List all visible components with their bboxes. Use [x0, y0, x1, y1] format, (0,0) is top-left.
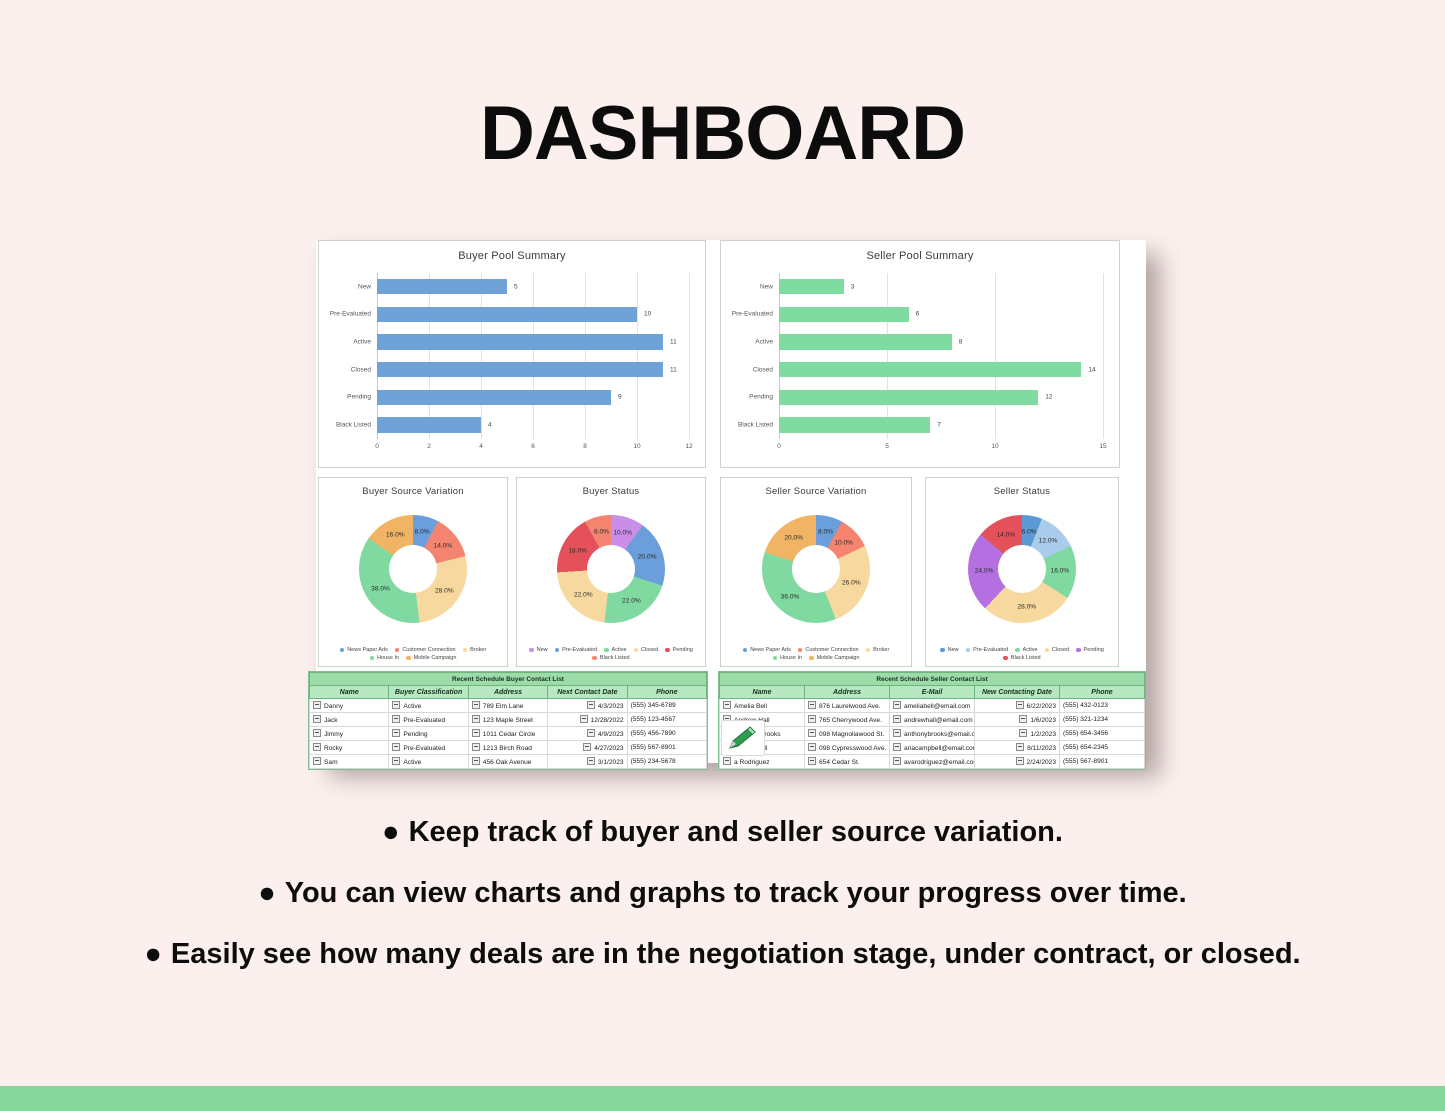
donut-slice-label: 18.0% — [568, 547, 587, 554]
bar — [779, 417, 930, 432]
bar-row: Black Listed7 — [779, 411, 1103, 439]
table-cell[interactable]: 8/11/2023 — [975, 741, 1060, 755]
table-cell[interactable]: ameliabell@email.com — [890, 699, 975, 713]
dashboard-screenshot: Buyer Pool Summary New5Pre-Evaluated10Ac… — [316, 240, 1146, 763]
filter-dropdown-icon[interactable] — [583, 743, 591, 751]
seller-pool-summary-chart: New3Pre-Evaluated6Active8Closed14Pending… — [721, 267, 1115, 461]
table-cell[interactable]: Rocky — [310, 741, 389, 755]
cell-value: Jimmy — [324, 731, 343, 738]
bar-value-label: 6 — [916, 311, 920, 318]
seller-source-legend: News Paper AdsCustomer ConnectionBrokerH… — [727, 647, 905, 661]
cell-value: Pending — [403, 731, 427, 738]
table-row[interactable]: RockyPre-Evaluated1213 Birch Road4/27/20… — [310, 741, 707, 755]
bar-chart-row: Buyer Pool Summary New5Pre-Evaluated10Ac… — [318, 240, 1144, 468]
legend-item: Pending — [665, 647, 693, 653]
table-cell[interactable]: anthonybrooks@email.com — [890, 727, 975, 741]
donut-slice-label: 22.0% — [622, 598, 641, 605]
buyer-source-variation-card: Buyer Source Variation 8.0%14.0%28.0%38.… — [318, 477, 508, 667]
seller-contact-table: Recent Schedule Seller Contact ListNameA… — [718, 671, 1146, 770]
bar-value-label: 11 — [670, 339, 677, 346]
donut-slice-label: 16.0% — [386, 532, 405, 539]
table-cell[interactable]: (555) 654-2345 — [1060, 741, 1145, 755]
cell-value: 098 Cypresswood Ave. — [819, 745, 886, 752]
buyer-status-legend: NewPre-EvaluatedActiveClosedPendingBlack… — [523, 647, 699, 661]
table-row[interactable]: Andrew Hall765 Cherrywood Ave.andrewhall… — [720, 713, 1145, 727]
table-cell[interactable]: 789 Elm Lane — [468, 699, 547, 713]
bar — [377, 307, 637, 322]
bar-category-label: Black Listed — [738, 422, 773, 429]
bar — [779, 362, 1081, 377]
cell-value: (555) 654-2345 — [1063, 744, 1108, 751]
legend-swatch — [665, 648, 670, 653]
axis-tick-label: 0 — [777, 443, 781, 450]
table-cell[interactable]: 2/24/2023 — [975, 755, 1060, 769]
pencil-cursor-icon — [721, 720, 765, 756]
column-header[interactable]: Address — [468, 686, 547, 699]
donut-slice-label: 28.0% — [435, 587, 454, 594]
cell-value: 876 Laurelwood Ave. — [819, 703, 880, 710]
table-cell[interactable]: (555) 321-1234 — [1060, 713, 1145, 727]
column-header[interactable]: Phone — [1060, 686, 1145, 699]
cell-value: (555) 345-6789 — [631, 702, 676, 709]
table-cell[interactable]: Jimmy — [310, 727, 389, 741]
legend-swatch — [940, 648, 945, 653]
buyer-source-variation-title: Buyer Source Variation — [319, 486, 507, 497]
table-cell[interactable]: (555) 345-6789 — [627, 699, 706, 713]
legend-label: New — [537, 647, 548, 653]
bar — [779, 334, 952, 349]
bar — [377, 334, 663, 349]
filter-dropdown-icon[interactable] — [808, 729, 816, 737]
filter-dropdown-icon[interactable] — [313, 729, 321, 737]
seller-pool-summary-card: Seller Pool Summary New3Pre-Evaluated6Ac… — [720, 240, 1120, 468]
table-row[interactable]: a Rodriguez654 Cedar St.avarodriguez@ema… — [720, 755, 1145, 769]
bar — [779, 307, 909, 322]
cell-value: Pre-Evaluated — [403, 717, 445, 724]
table-cell[interactable]: Active — [389, 755, 468, 769]
column-header[interactable]: Phone — [627, 686, 706, 699]
table-cell[interactable]: Pending — [389, 727, 468, 741]
cell-value: Amelia Bell — [734, 703, 767, 710]
legend-item: Broker — [463, 647, 487, 653]
legend-swatch — [592, 656, 597, 661]
bar-row: Closed11 — [377, 356, 689, 384]
legend-label: New — [948, 647, 959, 653]
bar-row: Closed14 — [779, 356, 1103, 384]
gridline — [1103, 273, 1104, 439]
filter-dropdown-icon[interactable] — [1019, 729, 1027, 737]
table-cell[interactable]: 1011 Cedar Circle — [468, 727, 547, 741]
legend-label: House In — [780, 655, 802, 661]
buyer-source-donut: 8.0%14.0%28.0%38.0%16.0% — [319, 502, 507, 636]
seller-pool-plot: New3Pre-Evaluated6Active8Closed14Pending… — [779, 273, 1103, 439]
filter-dropdown-icon[interactable] — [808, 715, 816, 723]
table-cell[interactable]: (555) 234-5678 — [627, 755, 706, 769]
cell-value: (555) 567-8901 — [631, 744, 676, 751]
filter-dropdown-icon[interactable] — [313, 701, 321, 709]
bullet-item: ●Keep track of buyer and seller source v… — [60, 802, 1385, 863]
legend-label: Pre-Evaluated — [562, 647, 597, 653]
seller-source-variation-card: Seller Source Variation 8.0%10.0%26.0%36… — [720, 477, 912, 667]
seller-source-donut: 8.0%10.0%26.0%36.0%20.0% — [721, 502, 911, 636]
legend-swatch — [370, 656, 375, 661]
bar-value-label: 9 — [618, 394, 622, 401]
legend-label: Pending — [1084, 647, 1104, 653]
cell-value: Active — [403, 703, 421, 710]
donut-slice-label: 24.0% — [975, 568, 994, 575]
bullet-marker: ● — [144, 938, 162, 970]
cell-value: 12/28/2022 — [591, 717, 624, 724]
buyer-pool-xaxis: 024681012 — [377, 443, 689, 457]
table-cell[interactable]: Danny — [310, 699, 389, 713]
cell-value: a Rodriguez — [734, 759, 770, 766]
donut-slice-label: 14.0% — [434, 542, 453, 549]
filter-dropdown-icon[interactable] — [472, 743, 480, 751]
table-cell[interactable]: 098 Cypresswood Ave. — [805, 741, 890, 755]
column-header[interactable]: E-Mail — [890, 686, 975, 699]
legend-swatch — [866, 648, 871, 653]
filter-dropdown-icon[interactable] — [580, 715, 588, 723]
donut-slice-label: 8.0% — [594, 529, 609, 536]
cell-value: Sam — [324, 759, 338, 766]
buyer-status-title: Buyer Status — [517, 486, 705, 497]
donut-slice-label: 28.0% — [1017, 603, 1036, 610]
bar — [377, 362, 663, 377]
donut-slice-label: 22.0% — [574, 592, 593, 599]
cell-value: (555) 123-4567 — [631, 716, 676, 723]
donut-slice-label: 36.0% — [781, 593, 800, 600]
filter-dropdown-icon[interactable] — [313, 757, 321, 765]
gridline — [689, 273, 690, 439]
table-row[interactable]: a Campbell098 Cypresswood Ave.ariacampbe… — [720, 741, 1145, 755]
cell-value: Jack — [324, 717, 338, 724]
bar-row: Pending9 — [377, 384, 689, 412]
table-row[interactable]: SamActive456 Oak Avenue3/1/2023(555) 234… — [310, 755, 707, 769]
legend-item: News Paper Ads — [743, 647, 791, 653]
donut-ring — [359, 515, 467, 623]
bar-row: Black Listed4 — [377, 411, 689, 439]
legend-label: Active — [1023, 647, 1038, 653]
legend-swatch — [809, 656, 814, 661]
table-cell[interactable]: (555) 456-7890 — [627, 727, 706, 741]
table-row[interactable]: JackPre-Evaluated123 Maple Street12/28/2… — [310, 713, 707, 727]
table-caption: Recent Schedule Seller Contact List — [720, 673, 1145, 686]
table-row[interactable]: Anthony Brooks098 Magnoliawood St.anthon… — [720, 727, 1145, 741]
table-cell[interactable]: 4/3/2023 — [548, 699, 627, 713]
legend-swatch — [555, 648, 560, 653]
bullet-item: ●Easily see how many deals are in the ne… — [60, 924, 1385, 985]
legend-swatch — [604, 648, 609, 653]
bar-category-label: Pre-Evaluated — [732, 311, 773, 318]
table-cell[interactable]: 876 Laurelwood Ave. — [805, 699, 890, 713]
table-cell[interactable]: 765 Cherrywood Ave. — [805, 713, 890, 727]
filter-dropdown-icon[interactable] — [723, 757, 731, 765]
column-header[interactable]: Buyer Classification — [389, 686, 468, 699]
legend-swatch — [634, 648, 639, 653]
table-row[interactable]: DannyActive789 Elm Lane4/3/2023(555) 345… — [310, 699, 707, 713]
seller-status-card: Seller Status 6.0%12.0%16.0%28.0%24.0%14… — [925, 477, 1119, 667]
cell-value: 3/1/2023 — [598, 759, 624, 766]
filter-dropdown-icon[interactable] — [1016, 743, 1024, 751]
column-header[interactable]: New Contacting Date — [975, 686, 1060, 699]
table-cell[interactable]: 6/22/2023 — [975, 699, 1060, 713]
bar-value-label: 7 — [937, 422, 941, 429]
legend-item: Mobile Campaign — [406, 655, 456, 661]
bar-value-label: 14 — [1088, 366, 1095, 373]
filter-dropdown-icon[interactable] — [808, 757, 816, 765]
filter-dropdown-icon[interactable] — [587, 701, 595, 709]
table-cell[interactable]: Jack — [310, 713, 389, 727]
filter-dropdown-icon[interactable] — [472, 715, 480, 723]
buyer-contact-table: Recent Schedule Buyer Contact ListNameBu… — [308, 671, 708, 770]
bar — [779, 279, 844, 294]
donut-slice-label: 16.0% — [1051, 568, 1070, 575]
legend-item: Active — [1015, 647, 1037, 653]
axis-tick-label: 12 — [685, 443, 692, 450]
axis-tick-label: 2 — [427, 443, 431, 450]
legend-item: Customer Connection — [798, 647, 859, 653]
legend-item: House In — [773, 655, 803, 661]
bullet-item: ●You can view charts and graphs to track… — [60, 863, 1385, 924]
bar-value-label: 8 — [959, 339, 963, 346]
donut-slice-label: 26.0% — [842, 580, 861, 587]
donut-slice-label: 38.0% — [371, 585, 390, 592]
legend-swatch — [743, 648, 748, 653]
table-cell[interactable]: avarodriguez@email.com — [890, 755, 975, 769]
bar-category-label: New — [760, 283, 773, 290]
legend-swatch — [798, 648, 803, 653]
column-header[interactable]: Address — [805, 686, 890, 699]
donut-ring — [762, 515, 870, 623]
bar-row: Active8 — [779, 328, 1103, 356]
column-header[interactable]: Name — [720, 686, 805, 699]
bar-value-label: 11 — [670, 366, 677, 373]
axis-tick-label: 10 — [991, 443, 998, 450]
table-cell[interactable]: Pre-Evaluated — [389, 741, 468, 755]
axis-tick-label: 8 — [583, 443, 587, 450]
filter-dropdown-icon[interactable] — [392, 729, 400, 737]
legend-item: Broker — [866, 647, 890, 653]
filter-dropdown-icon[interactable] — [808, 743, 816, 751]
bar — [779, 390, 1038, 405]
column-header[interactable]: Next Contact Date — [548, 686, 627, 699]
legend-swatch — [773, 656, 778, 661]
filter-dropdown-icon[interactable] — [313, 743, 321, 751]
bullet-marker: ● — [258, 877, 276, 909]
legend-item: Active — [604, 647, 626, 653]
table-cell[interactable]: (555) 123-4567 — [627, 713, 706, 727]
filter-dropdown-icon[interactable] — [472, 701, 480, 709]
filter-dropdown-icon[interactable] — [313, 715, 321, 723]
donut-slice-label: 10.0% — [613, 529, 632, 536]
cell-value: 6/22/2023 — [1027, 703, 1056, 710]
axis-tick-label: 15 — [1099, 443, 1106, 450]
table-cell[interactable]: (555) 567-8901 — [1060, 755, 1145, 769]
filter-dropdown-icon[interactable] — [723, 701, 731, 709]
bar-row: Pre-Evaluated6 — [779, 301, 1103, 329]
table-cell[interactable]: (555) 654-3456 — [1060, 727, 1145, 741]
cell-value: 765 Cherrywood Ave. — [819, 717, 882, 724]
table-cell[interactable]: 654 Cedar St. — [805, 755, 890, 769]
cell-value: (555) 654-3456 — [1063, 730, 1108, 737]
cell-value: andrewhall@email.com — [904, 717, 973, 724]
bullet-text: Easily see how many deals are in the neg… — [171, 938, 1301, 970]
filter-dropdown-icon[interactable] — [808, 701, 816, 709]
table-cell[interactable]: 123 Maple Street — [468, 713, 547, 727]
bar — [377, 279, 507, 294]
cell-value: (555) 321-1234 — [1063, 716, 1108, 723]
bar-row: New3 — [779, 273, 1103, 301]
legend-label: Broker — [470, 647, 486, 653]
table-cell[interactable]: Pre-Evaluated — [389, 713, 468, 727]
legend-swatch — [340, 648, 345, 653]
table-cell[interactable]: 1/2/2023 — [975, 727, 1060, 741]
legend-label: News Paper Ads — [347, 647, 388, 653]
table-cell[interactable]: a Rodriguez — [720, 755, 805, 769]
table-caption: Recent Schedule Buyer Contact List — [310, 673, 707, 686]
legend-swatch — [406, 656, 411, 661]
filter-dropdown-icon[interactable] — [392, 757, 400, 765]
seller-pool-xaxis: 051015 — [779, 443, 1103, 457]
donut-ring — [557, 515, 665, 623]
table-cell[interactable]: 12/28/2022 — [548, 713, 627, 727]
cell-value: Danny — [324, 703, 343, 710]
cell-value: 1/2/2023 — [1030, 731, 1056, 738]
filter-dropdown-icon[interactable] — [893, 701, 901, 709]
contact-tables-row: Recent Schedule Buyer Contact ListNameBu… — [308, 671, 1146, 763]
cell-value: 4/27/2023 — [594, 745, 623, 752]
table-cell[interactable]: Active — [389, 699, 468, 713]
seller-status-legend: NewPre-EvaluatedActiveClosedPendingBlack… — [932, 647, 1112, 661]
cell-value: 4/9/2023 — [598, 731, 624, 738]
legend-swatch — [529, 648, 534, 653]
filter-dropdown-icon[interactable] — [472, 729, 480, 737]
axis-tick-label: 6 — [531, 443, 535, 450]
filter-dropdown-icon[interactable] — [1019, 715, 1027, 723]
legend-label: Mobile Campaign — [817, 655, 860, 661]
bar-category-label: Active — [755, 339, 773, 346]
donut-slice-label: 6.0% — [1022, 528, 1037, 535]
filter-dropdown-icon[interactable] — [1016, 701, 1024, 709]
legend-label: Active — [612, 647, 627, 653]
table-cell[interactable]: Amelia Bell — [720, 699, 805, 713]
buyer-source-legend: News Paper AdsCustomer ConnectionBrokerH… — [325, 647, 501, 661]
filter-dropdown-icon[interactable] — [1016, 757, 1024, 765]
legend-label: News Paper Ads — [750, 647, 791, 653]
buyer-status-donut: 10.0%20.0%22.0%22.0%18.0%8.0% — [517, 502, 705, 636]
legend-swatch — [1003, 656, 1008, 661]
legend-label: Closed — [641, 647, 658, 653]
table-cell[interactable]: 098 Magnoliawood St. — [805, 727, 890, 741]
bullet-text: Keep track of buyer and seller source va… — [409, 816, 1063, 848]
bar-value-label: 10 — [644, 311, 651, 318]
axis-tick-label: 10 — [633, 443, 640, 450]
bar-category-label: New — [358, 283, 371, 290]
bar-row: New5 — [377, 273, 689, 301]
table-cell[interactable]: 4/27/2023 — [548, 741, 627, 755]
table-row[interactable]: Amelia Bell876 Laurelwood Ave.ameliabell… — [720, 699, 1145, 713]
legend-item: Closed — [1045, 647, 1070, 653]
legend-item: Black Listed — [592, 655, 629, 661]
table-cell[interactable]: Sam — [310, 755, 389, 769]
table-cell[interactable]: 1213 Birch Road — [468, 741, 547, 755]
filter-dropdown-icon[interactable] — [893, 715, 901, 723]
filter-dropdown-icon[interactable] — [392, 701, 400, 709]
page-title: DASHBOARD — [0, 96, 1445, 172]
cell-value: 789 Elm Lane — [483, 703, 524, 710]
cell-value: (555) 234-5678 — [631, 758, 676, 765]
legend-swatch — [395, 648, 400, 653]
table-cell[interactable]: andrewhall@email.com — [890, 713, 975, 727]
table-cell[interactable]: (555) 432-0123 — [1060, 699, 1145, 713]
legend-label: Pre-Evaluated — [973, 647, 1008, 653]
legend-item: News Paper Ads — [340, 647, 388, 653]
table-row[interactable]: JimmyPending1011 Cedar Circle4/9/2023(55… — [310, 727, 707, 741]
poster-page: DASHBOARD Buyer Pool Summary New5Pre-Eva… — [0, 0, 1445, 1111]
table-cell[interactable]: ariacampbell@email.com — [890, 741, 975, 755]
cell-value: 1213 Birch Road — [483, 745, 532, 752]
filter-dropdown-icon[interactable] — [587, 757, 595, 765]
legend-item: Customer Connection — [395, 647, 456, 653]
table-cell[interactable]: 1/6/2023 — [975, 713, 1060, 727]
bar-row: Active11 — [377, 328, 689, 356]
footer-bar — [0, 1086, 1445, 1111]
legend-label: Black Listed — [1011, 655, 1041, 661]
filter-dropdown-icon[interactable] — [893, 757, 901, 765]
legend-label: Broker — [873, 647, 889, 653]
bar-category-label: Closed — [753, 366, 773, 373]
buyer-pool-summary-card: Buyer Pool Summary New5Pre-Evaluated10Ac… — [318, 240, 706, 468]
legend-label: House In — [377, 655, 399, 661]
axis-tick-label: 0 — [375, 443, 379, 450]
seller-pool-summary-title: Seller Pool Summary — [721, 250, 1119, 262]
cell-value: avarodriguez@email.com — [904, 759, 975, 766]
legend-item: Pre-Evaluated — [966, 647, 1008, 653]
filter-dropdown-icon[interactable] — [893, 743, 901, 751]
table-cell[interactable]: (555) 567-8901 — [627, 741, 706, 755]
table-cell[interactable]: 4/9/2023 — [548, 727, 627, 741]
seller-source-variation-title: Seller Source Variation — [721, 486, 911, 497]
cell-value: anthonybrooks@email.com — [904, 731, 975, 738]
legend-item: Pending — [1076, 647, 1104, 653]
legend-label: Customer Connection — [402, 647, 455, 653]
column-header[interactable]: Name — [310, 686, 389, 699]
table-cell[interactable]: 3/1/2023 — [548, 755, 627, 769]
legend-label: Customer Connection — [805, 647, 858, 653]
cell-value: (555) 567-8901 — [1063, 758, 1108, 765]
seller-status-donut: 6.0%12.0%16.0%28.0%24.0%14.0% — [926, 502, 1118, 636]
legend-label: Closed — [1052, 647, 1069, 653]
filter-dropdown-icon[interactable] — [472, 757, 480, 765]
filter-dropdown-icon[interactable] — [392, 743, 400, 751]
legend-item: Black Listed — [1003, 655, 1040, 661]
bar-category-label: Black Listed — [336, 422, 371, 429]
legend-label: Mobile Campaign — [414, 655, 457, 661]
bar-value-label: 3 — [851, 283, 855, 290]
filter-dropdown-icon[interactable] — [587, 729, 595, 737]
legend-swatch — [1045, 648, 1050, 653]
donut-slice-label: 20.0% — [784, 535, 803, 542]
filter-dropdown-icon[interactable] — [893, 729, 901, 737]
cell-value: 8/11/2023 — [1027, 745, 1056, 752]
donut-chart-row: Buyer Source Variation 8.0%14.0%28.0%38.… — [318, 477, 1144, 667]
filter-dropdown-icon[interactable] — [392, 715, 400, 723]
donut-slice-label: 10.0% — [834, 540, 853, 547]
cell-value: (555) 432-0123 — [1063, 702, 1108, 709]
table-cell[interactable]: 456 Oak Avenue — [468, 755, 547, 769]
donut-slice-label: 8.0% — [415, 529, 430, 536]
cell-value: Pre-Evaluated — [403, 745, 445, 752]
